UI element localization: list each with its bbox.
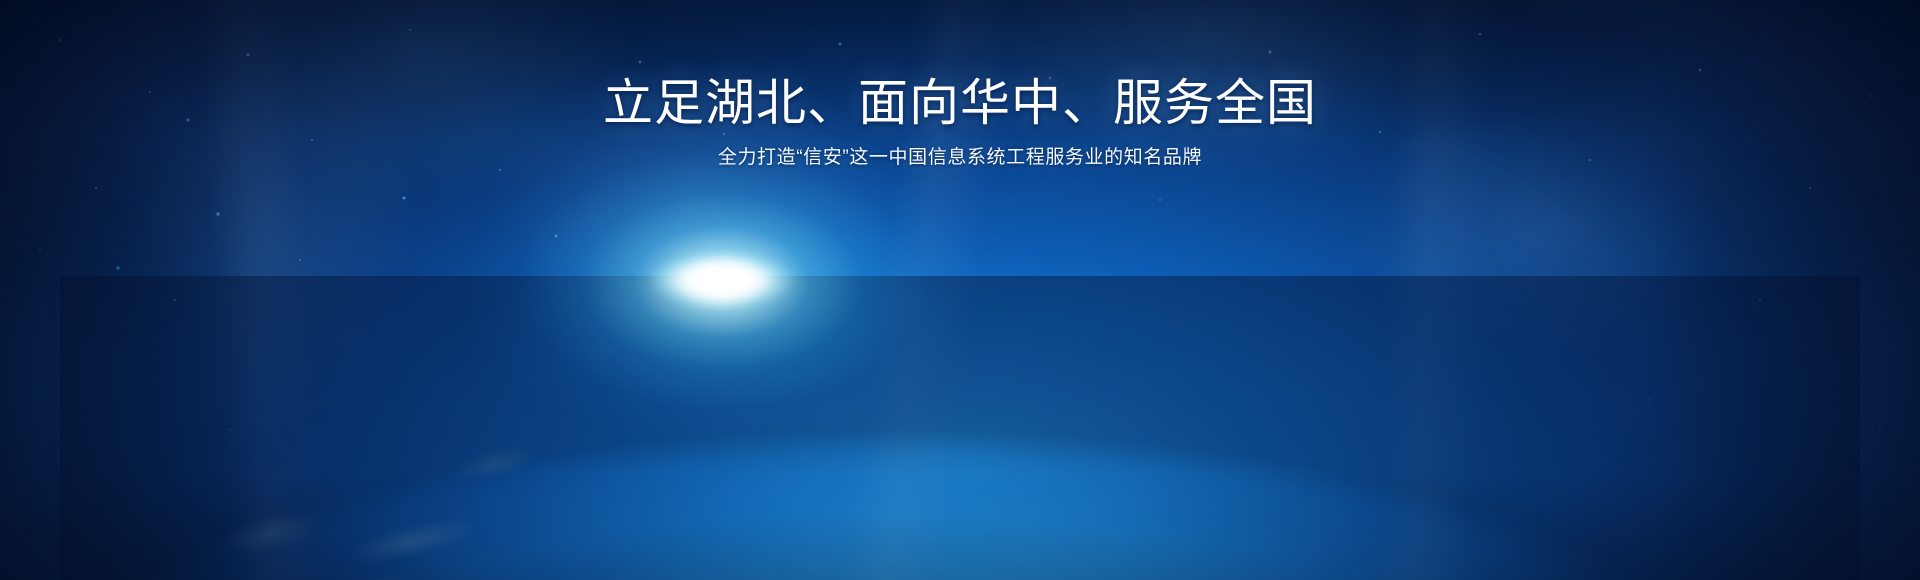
center-light-core — [647, 251, 797, 309]
banner-headline: 立足湖北、面向华中、服务全国 — [0, 78, 1920, 128]
hero-banner: 立足湖北、面向华中、服务全国 全力打造“信安”这一中国信息系统工程服务业的知名品… — [0, 0, 1920, 580]
banner-subheadline: 全力打造“信安”这一中国信息系统工程服务业的知名品牌 — [0, 148, 1920, 167]
banner-text-block: 立足湖北、面向华中、服务全国 全力打造“信安”这一中国信息系统工程服务业的知名品… — [0, 78, 1920, 167]
